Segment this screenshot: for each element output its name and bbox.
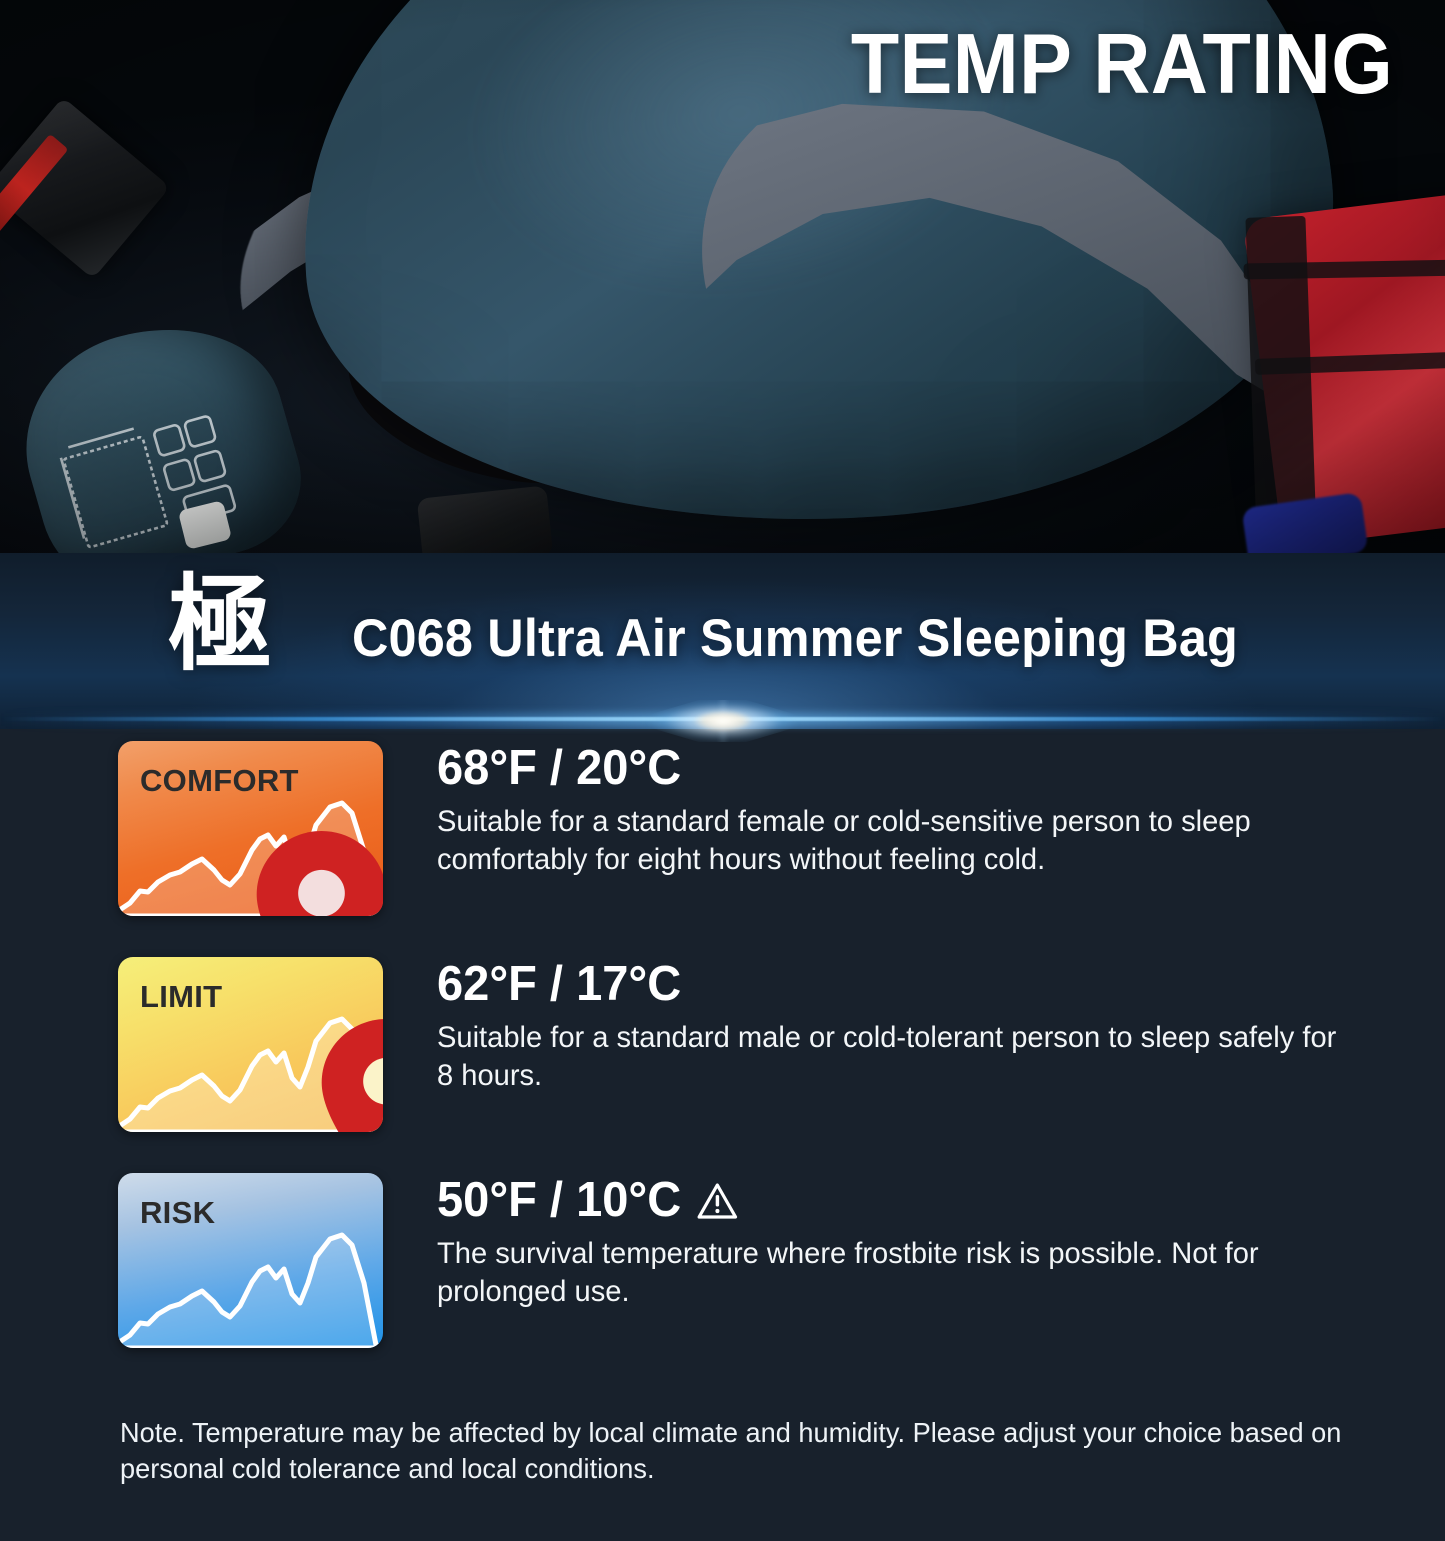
risk-description: The survival temperature where frostbite…	[437, 1235, 1344, 1311]
map-pin-icon-risk	[324, 1206, 383, 1348]
risk-text-block: 50°F / 10°C The survival temperature whe…	[383, 1173, 1445, 1311]
card-label-comfort: COMFORT	[140, 763, 299, 799]
risk-temperature-row: 50°F / 10°C	[437, 1175, 1405, 1226]
product-title: C068 Ultra Air Summer Sleeping Bag	[352, 608, 1238, 669]
limit-description: Suitable for a standard male or cold-tol…	[437, 1019, 1344, 1095]
rating-row-risk: RISK 50°F / 10°C The	[0, 1173, 1445, 1348]
map-pin-icon-comfort	[189, 831, 383, 916]
hero-photo: TEMP RATING	[0, 0, 1445, 556]
rating-row-comfort: COMFORT 68°F / 20°C Suitable for a stand…	[0, 741, 1445, 916]
risk-temperature: 50°F / 10°C	[437, 1175, 681, 1226]
limit-temperature: 62°F / 17°C	[437, 959, 681, 1010]
flare-hotspot	[688, 708, 758, 734]
page-title: TEMP RATING	[851, 22, 1393, 107]
rating-rows: COMFORT 68°F / 20°C Suitable for a stand…	[0, 741, 1445, 1389]
limit-temperature-row: 62°F / 17°C	[437, 959, 1405, 1010]
warning-triangle-icon	[697, 1181, 739, 1221]
temp-rating-infographic: TEMP RATING 極 C068 Ultra Air Summer Slee…	[0, 0, 1445, 1541]
comfort-rating-card[interactable]: COMFORT	[118, 741, 383, 916]
card-label-risk: RISK	[140, 1195, 215, 1231]
comfort-temperature-row: 68°F / 20°C	[437, 743, 1405, 794]
comfort-text-block: 68°F / 20°C Suitable for a standard fema…	[383, 741, 1445, 879]
rating-row-limit: LIMIT 62°F / 17°C Suitable for a standar…	[0, 957, 1445, 1132]
risk-rating-card[interactable]: RISK	[118, 1173, 383, 1348]
comfort-temperature: 68°F / 20°C	[437, 743, 681, 794]
limit-rating-card[interactable]: LIMIT	[118, 957, 383, 1132]
map-pin-icon-limit	[254, 1019, 383, 1132]
camera-body	[417, 485, 554, 556]
comfort-description: Suitable for a standard female or cold-s…	[437, 803, 1344, 879]
card-label-limit: LIMIT	[140, 979, 222, 1015]
limit-text-block: 62°F / 17°C Suitable for a standard male…	[383, 957, 1445, 1095]
footer-note: Note. Temperature may be affected by loc…	[120, 1415, 1342, 1486]
lens-flare-divider	[0, 700, 1445, 742]
kanji-logo: 極	[168, 572, 272, 676]
